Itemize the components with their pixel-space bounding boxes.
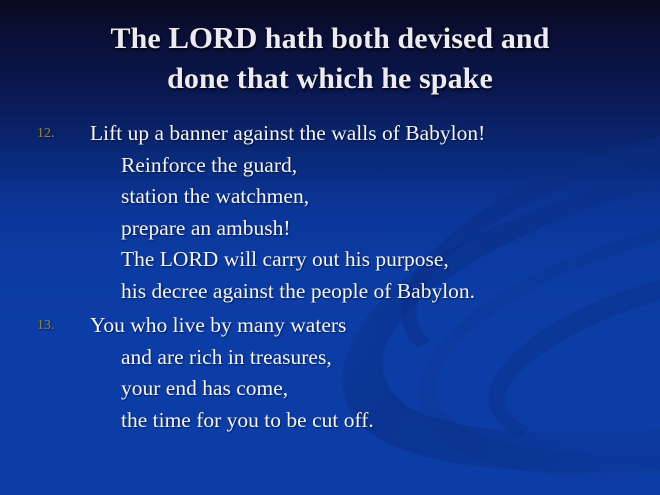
verse-line: the time for you to be cut off.: [90, 405, 660, 437]
verse-line: station the watchmen,: [90, 181, 660, 213]
title-line-1: The LORD hath both devised and: [0, 18, 660, 59]
title-lord-emphasis: LORD: [168, 20, 257, 55]
verse-item: 13. You who live by many waters and are …: [0, 310, 660, 436]
verse-lines: You who live by many waters and are rich…: [0, 310, 660, 436]
verse-line: Reinforce the guard,: [90, 150, 660, 182]
verse-item: 12. Lift up a banner against the walls o…: [0, 118, 660, 307]
slide-title: The LORD hath both devised and done that…: [0, 18, 660, 99]
verse-line: his decree against the people of Babylon…: [90, 276, 660, 308]
title-line-1-pre: The: [111, 22, 169, 55]
slide-body: 12. Lift up a banner against the walls o…: [0, 118, 660, 436]
verse-line: and are rich in treasures,: [90, 342, 660, 374]
title-line-1-post: hath both devised and: [257, 22, 549, 55]
verse-lines: Lift up a banner against the walls of Ba…: [0, 118, 660, 307]
verse-line: You who live by many waters: [90, 310, 660, 342]
verse-line: The LORD will carry out his purpose,: [90, 244, 660, 276]
verse-number: 13.: [37, 310, 81, 341]
verse-line: your end has come,: [90, 373, 660, 405]
presentation-slide: The LORD hath both devised and done that…: [0, 0, 660, 495]
title-line-2: done that which he spake: [0, 59, 660, 99]
verse-line: Lift up a banner against the walls of Ba…: [90, 118, 660, 150]
verse-number: 12.: [37, 118, 81, 149]
verse-line: prepare an ambush!: [90, 213, 660, 245]
